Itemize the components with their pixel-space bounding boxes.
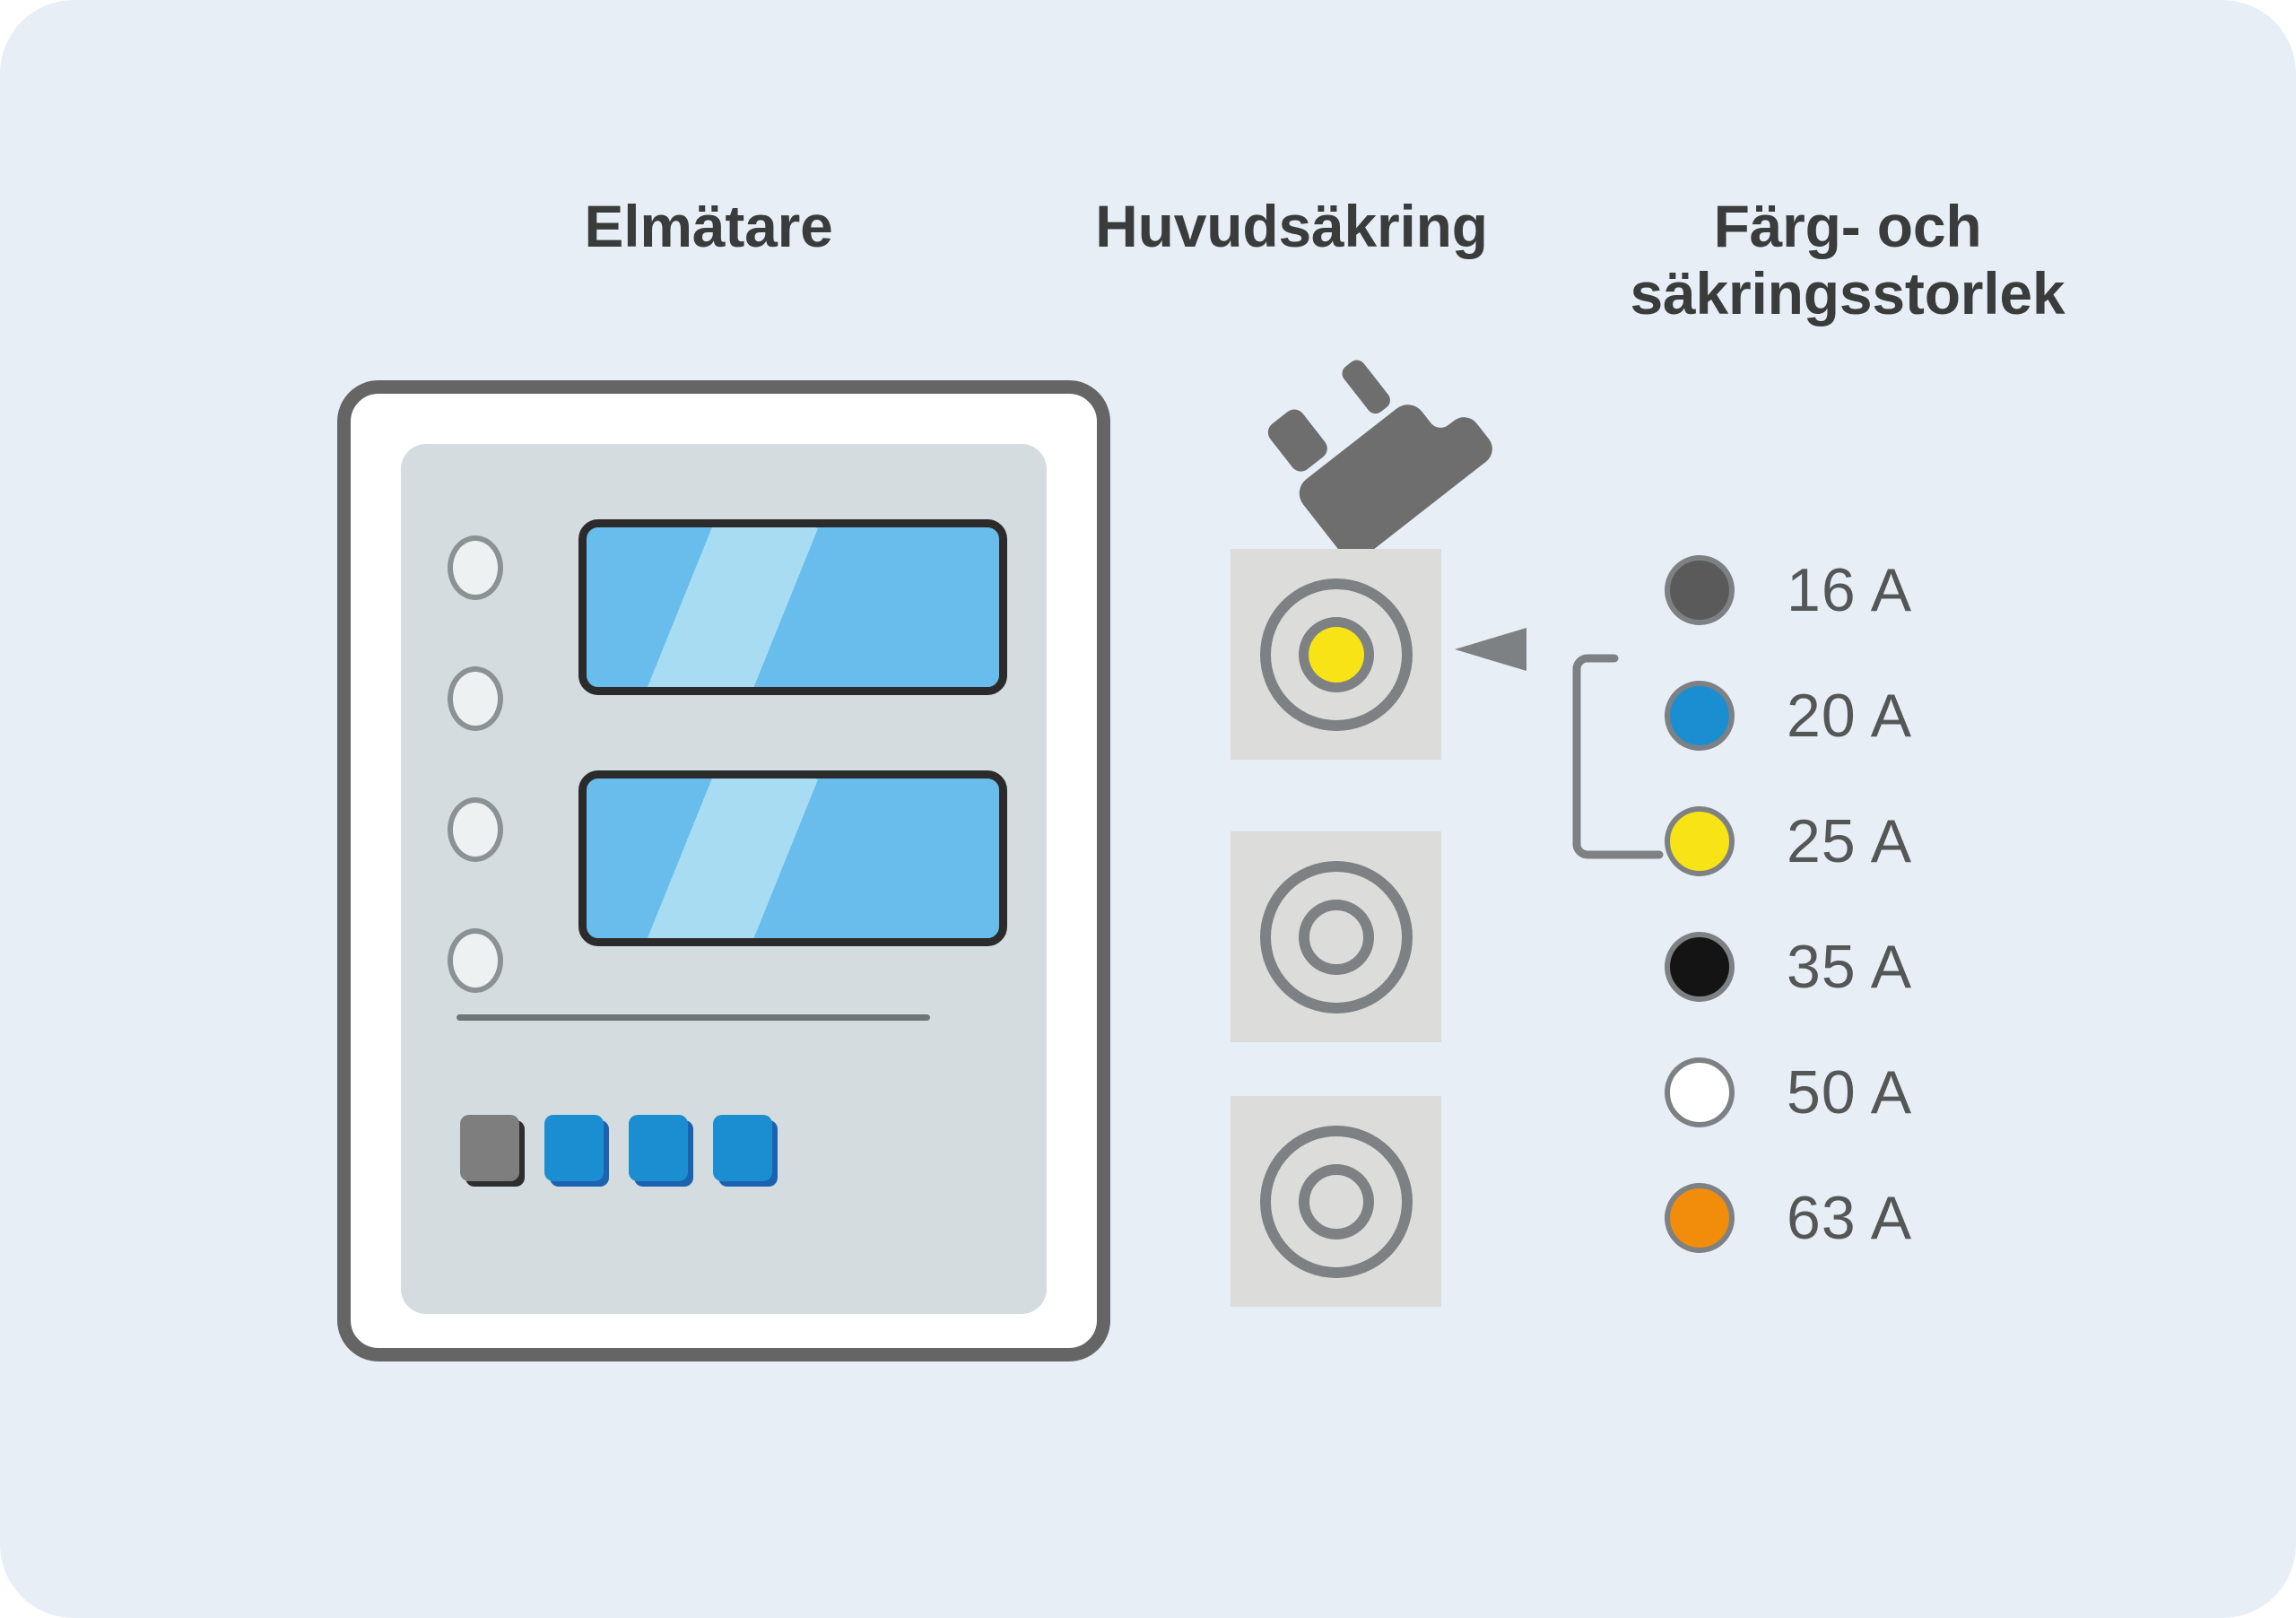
meter-led-4 <box>448 928 503 993</box>
meter-button-face <box>460 1115 519 1181</box>
legend-item-50a: 50 A <box>1665 1030 2131 1155</box>
heading-electricity-meter: Elmätare <box>430 193 987 260</box>
legend-item-16a: 16 A <box>1665 527 2131 653</box>
legend-item-25a: 25 A <box>1665 779 2131 904</box>
legend-label-50a: 50 A <box>1787 1057 1912 1127</box>
meter-button-face <box>713 1115 772 1181</box>
heading-main-fuse: Huvudsäkring <box>1013 193 1570 260</box>
meter-button-face <box>629 1115 688 1181</box>
meter-button-blue-1[interactable] <box>544 1115 609 1187</box>
legend-label-16a: 16 A <box>1787 555 1912 625</box>
fuse-color-dot-20a <box>1665 681 1735 751</box>
fuse-socket-top[interactable] <box>1231 549 1441 760</box>
meter-led-3 <box>448 797 503 862</box>
meter-button-blue-2[interactable] <box>629 1115 693 1187</box>
meter-display-top <box>578 519 1007 695</box>
legend-item-63a: 63 A <box>1665 1155 2131 1281</box>
fuse-puller-tool-icon <box>1215 350 1511 565</box>
legend-item-20a: 20 A <box>1665 653 2131 779</box>
meter-led-1 <box>448 535 503 600</box>
fuse-color-dot-16a <box>1665 555 1735 625</box>
meter-button-face <box>544 1115 604 1181</box>
fuse-socket-bottom[interactable] <box>1231 1096 1441 1307</box>
installed-fuse-25a-icon <box>1309 627 1364 683</box>
meter-led-2 <box>448 666 503 731</box>
meter-divider <box>457 1014 930 1021</box>
diagram-stage: Elmätare Huvudsäkring Färg- och säkrings… <box>0 0 2296 1618</box>
legend-label-35a: 35 A <box>1787 932 1912 1002</box>
fuse-socket-middle[interactable] <box>1231 831 1441 1042</box>
fuse-color-legend: 16 A 20 A 25 A 35 A 50 A 63 A <box>1665 527 2131 1281</box>
meter-display-bottom <box>578 770 1007 946</box>
heading-color-and-fuse-size-line1: Färg- och <box>1714 193 1982 259</box>
electricity-meter <box>337 380 1110 1361</box>
heading-color-and-fuse-size: Färg- och säkringsstorlek <box>1561 193 2135 327</box>
legend-label-63a: 63 A <box>1787 1183 1912 1253</box>
socket-inner-ring-icon <box>1299 1164 1374 1240</box>
legend-label-25a: 25 A <box>1787 806 1912 876</box>
heading-color-and-fuse-size-line2: säkringsstorlek <box>1631 260 2066 326</box>
legend-label-20a: 20 A <box>1787 681 1912 751</box>
socket-inner-ring-icon <box>1299 900 1374 975</box>
fuse-color-dot-63a <box>1665 1183 1735 1253</box>
meter-button-blue-3[interactable] <box>713 1115 778 1187</box>
fuse-color-dot-35a <box>1665 932 1735 1002</box>
display-glare-icon <box>620 770 819 946</box>
fuse-color-dot-25a <box>1665 806 1735 876</box>
meter-panel <box>401 444 1047 1314</box>
display-glare-icon <box>620 519 819 695</box>
meter-button-gray[interactable] <box>460 1115 525 1187</box>
legend-item-35a: 35 A <box>1665 904 2131 1030</box>
fuse-color-dot-50a <box>1665 1057 1735 1127</box>
